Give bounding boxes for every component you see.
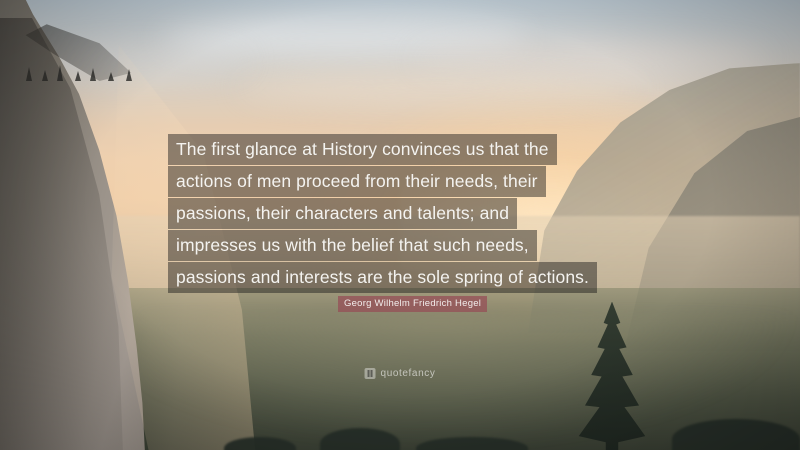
quote-author-wrap: Georg Wilhelm Friedrich Hegel [338, 296, 487, 312]
quote-line: The first glance at History convinces us… [168, 134, 557, 165]
quote-line: passions, their characters and talents; … [168, 198, 517, 229]
cloud-band-3 [240, 72, 640, 104]
quote-line: actions of men proceed from their needs,… [168, 166, 546, 197]
cloud-band-2 [416, 41, 768, 77]
quote-image: The first glance at History convinces us… [0, 0, 800, 450]
quote-line: impresses us with the belief that such n… [168, 230, 537, 261]
quotefancy-logo-icon [365, 368, 376, 379]
watermark: quotefancy [365, 368, 436, 379]
quote-author: Georg Wilhelm Friedrich Hegel [338, 296, 487, 312]
quote-text-block: The first glance at History convinces us… [168, 134, 638, 294]
cliff-top-trees [16, 27, 144, 81]
quote-line: passions and interests are the sole spri… [168, 262, 597, 293]
watermark-label: quotefancy [381, 368, 436, 379]
